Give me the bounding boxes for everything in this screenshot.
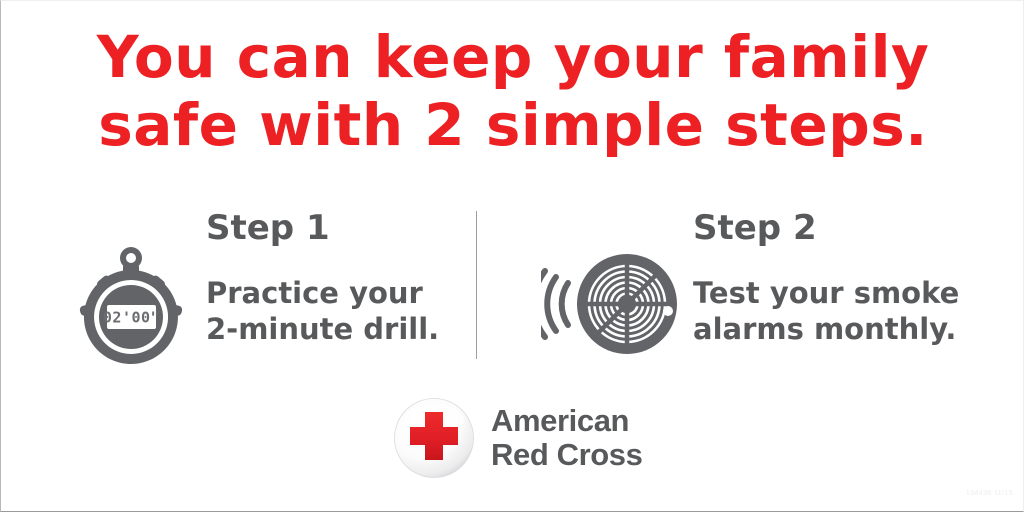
steps-divider	[476, 211, 477, 359]
stopwatch-display-value: 02'00"	[103, 309, 160, 327]
stopwatch-icon: 02'00"	[71, 245, 191, 370]
step-2-body: Test your smoke alarms monthly.	[693, 275, 959, 347]
step-1-body: Practice your 2-minute drill.	[206, 275, 439, 347]
logo-name-line-2: Red Cross	[491, 438, 642, 472]
document-code: 134438 11/15	[966, 490, 1013, 497]
smoke-alarm-icon	[541, 245, 681, 360]
page-title: You can keep your family safe with 2 sim…	[1, 23, 1024, 159]
headline-line-2: safe with 2 simple steps.	[1, 91, 1024, 159]
step-1-title: Step 1	[206, 209, 330, 247]
american-red-cross-logo: American Red Cross	[393, 397, 653, 483]
infographic-poster: You can keep your family safe with 2 sim…	[0, 0, 1024, 512]
step-2-body-line-2: alarms monthly.	[693, 311, 959, 347]
red-cross-icon	[393, 397, 475, 479]
logo-name-line-1: American	[491, 404, 642, 438]
steps-section: 02'00" Step 1 Practice your 2-minute dri…	[1, 197, 1024, 377]
headline-line-1: You can keep your family	[1, 23, 1024, 91]
step-1-column: 02'00" Step 1 Practice your 2-minute dri…	[61, 197, 461, 377]
step-2-body-line-1: Test your smoke	[693, 275, 959, 311]
logo-wordmark: American Red Cross	[491, 404, 642, 472]
step-2-title: Step 2	[693, 209, 817, 247]
step-2-column: Step 2 Test your smoke alarms monthly.	[541, 197, 961, 377]
step-1-body-line-2: 2-minute drill.	[206, 311, 439, 347]
step-1-body-line-1: Practice your	[206, 275, 439, 311]
